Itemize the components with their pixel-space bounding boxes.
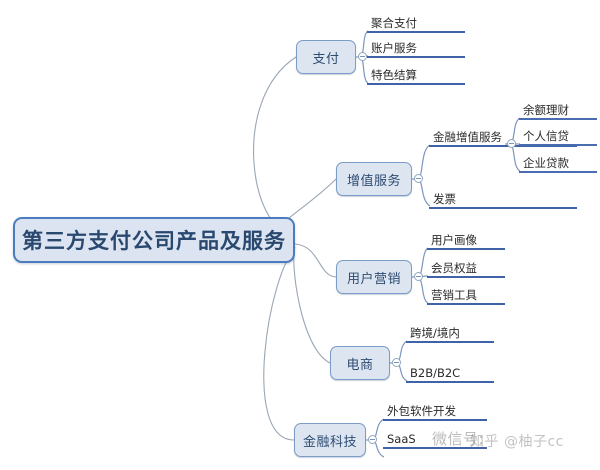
collapse-toggle-financial-value-added[interactable] <box>507 139 516 148</box>
branch-node-payment[interactable]: 支付 <box>296 40 356 74</box>
leaf-label: 发票 <box>429 192 577 207</box>
collapse-toggle-payment[interactable] <box>358 52 367 61</box>
leaf-label: 外包软件开发 <box>383 404 487 419</box>
leaf-underline <box>367 83 465 85</box>
leaf-item[interactable]: 用户画像 <box>427 233 505 250</box>
leaf-underline <box>427 303 505 305</box>
leaf-label: 会员权益 <box>427 261 505 276</box>
leaf-item[interactable]: 外包软件开发 <box>383 404 487 421</box>
leaf-label: B2B/B2C <box>406 366 494 381</box>
mindmap-canvas: 第三方支付公司产品及服务 支付 聚合支付 账户服务 特色结算 增值服务 金融增值… <box>0 0 600 470</box>
collapse-toggle-user-marketing[interactable] <box>414 272 423 281</box>
subleaf-underline <box>519 118 597 120</box>
leaf-item[interactable]: 聚合支付 <box>367 16 465 33</box>
subleaf-item[interactable]: 企业贷款 <box>519 156 597 173</box>
watermark-overlay-text: 知乎 @柚子cc <box>470 431 564 451</box>
branch-label-ecommerce: 电商 <box>346 354 373 373</box>
branch-node-ecommerce[interactable]: 电商 <box>330 346 390 380</box>
branch-node-user-marketing[interactable]: 用户营销 <box>336 260 412 294</box>
leaf-item[interactable]: B2B/B2C <box>406 366 494 383</box>
subleaf-underline <box>519 171 597 173</box>
collapse-toggle-value-added-services[interactable] <box>414 174 423 183</box>
subleaf-label: 个人信贷 <box>519 129 597 144</box>
branch-label-value-added-services: 增值服务 <box>347 170 401 189</box>
leaf-underline <box>383 419 487 421</box>
leaf-label: 用户画像 <box>427 233 505 248</box>
subleaf-underline <box>519 144 597 146</box>
leaf-item[interactable]: 发票 <box>429 192 577 209</box>
leaf-item[interactable]: 账户服务 <box>367 41 465 58</box>
subleaf-item[interactable]: 余额理财 <box>519 103 597 120</box>
leaf-underline <box>429 207 577 209</box>
subleaf-label: 企业贷款 <box>519 156 597 171</box>
subleaf-label: 余额理财 <box>519 103 597 118</box>
leaf-underline <box>427 248 505 250</box>
leaf-label: 特色结算 <box>367 68 465 83</box>
leaf-label: 跨境/境内 <box>406 326 494 341</box>
leaf-item[interactable]: 跨境/境内 <box>406 326 494 343</box>
leaf-underline <box>406 381 494 383</box>
branch-label-user-marketing: 用户营销 <box>347 268 401 287</box>
leaf-item[interactable]: 会员权益 <box>427 261 505 278</box>
collapse-toggle-ecommerce[interactable] <box>392 358 401 367</box>
subleaf-item[interactable]: 个人信贷 <box>519 129 597 146</box>
root-node-label: 第三方支付公司产品及服务 <box>22 225 286 255</box>
leaf-label: 账户服务 <box>367 41 465 56</box>
leaf-underline <box>367 31 465 33</box>
leaf-underline <box>367 56 465 58</box>
leaf-item[interactable]: 营销工具 <box>427 288 505 305</box>
leaf-label: 聚合支付 <box>367 16 465 31</box>
leaf-item[interactable]: 特色结算 <box>367 68 465 85</box>
branch-label-fintech: 金融科技 <box>303 431 357 450</box>
root-node[interactable]: 第三方支付公司产品及服务 <box>13 217 295 263</box>
branch-label-payment: 支付 <box>312 48 339 67</box>
leaf-underline <box>427 276 505 278</box>
collapse-toggle-fintech[interactable] <box>368 435 377 444</box>
branch-node-value-added-services[interactable]: 增值服务 <box>336 162 412 196</box>
branch-node-fintech[interactable]: 金融科技 <box>294 423 366 457</box>
leaf-underline <box>406 341 494 343</box>
leaf-label: 营销工具 <box>427 288 505 303</box>
